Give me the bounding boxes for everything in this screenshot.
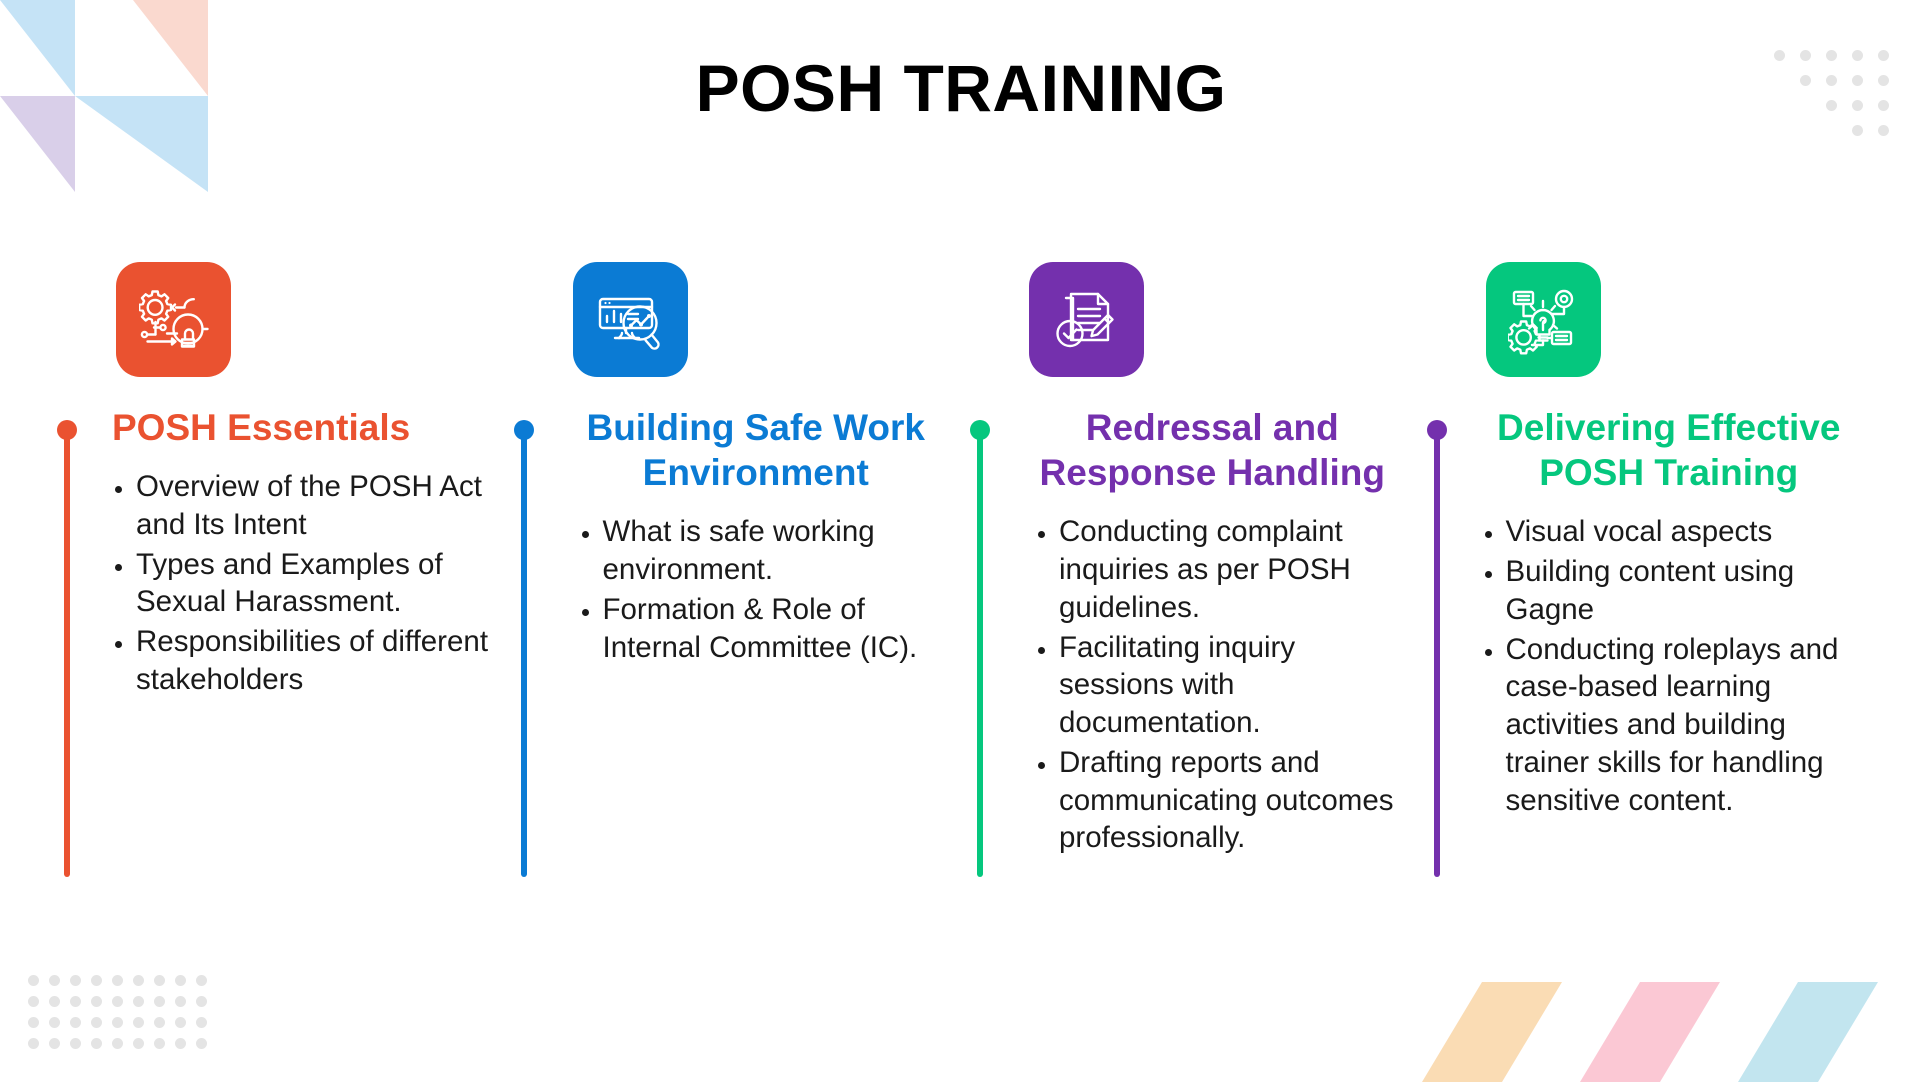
decorative-dot [112,975,123,986]
stripe-blue [1738,982,1878,1082]
decorative-dot [28,975,39,986]
decorative-dot [49,975,60,986]
list-item: Types and Examples of Sexual Harassment. [136,546,505,622]
list-item: Formation & Role of Internal Committee (… [603,591,962,667]
column-posh-essentials: POSH Essentials Overview of the POSH Act… [48,262,505,701]
divider-line [977,427,983,877]
decorative-dot [91,996,102,1007]
decorative-dot [133,996,144,1007]
icon-tile [1486,262,1601,377]
decorative-dot [112,1038,123,1049]
decorative-dot [133,1017,144,1028]
decorative-dot [196,1017,207,1028]
decorative-dot [133,1038,144,1049]
slide-canvas: POSH TRAINING [0,0,1922,1082]
columns-container: POSH Essentials Overview of the POSH Act… [48,262,1874,859]
decorative-dot [70,975,81,986]
decorative-dot [175,1038,186,1049]
decorative-dot [112,1017,123,1028]
decorative-dot [70,1038,81,1049]
stripe-orange [1422,982,1562,1082]
decorative-dot [196,996,207,1007]
column-title: Delivering Effective POSH Training [1464,405,1875,495]
decorative-dot [154,1017,165,1028]
decorative-dot [28,1017,39,1028]
document-pencil-check-icon [1052,285,1122,355]
column-title: POSH Essentials [94,405,505,450]
dot-grid-bottom-left-decoration [28,975,208,1055]
decorative-dot [112,996,123,1007]
list-item: Conducting complaint inquiries as per PO… [1059,513,1418,626]
divider-line [521,427,527,877]
list-item: Overview of the POSH Act and Its Intent [136,468,505,544]
decorative-dot [70,1017,81,1028]
gear-lightbulb-circuit-icon [139,285,209,355]
decorative-dot [175,996,186,1007]
decorative-dot [91,1038,102,1049]
icon-tile [116,262,231,377]
diagonal-stripes-decoration [1402,962,1922,1082]
icon-tile [1029,262,1144,377]
decorative-dot [154,975,165,986]
list-item: Drafting reports and communicating outco… [1059,744,1418,857]
column-bullet-list: What is safe working environment. Format… [551,513,962,666]
decorative-dot [1852,125,1863,136]
decorative-dot [91,975,102,986]
decorative-dot [154,1038,165,1049]
decorative-dot [175,1017,186,1028]
decorative-dot [49,996,60,1007]
list-item: Visual vocal aspects [1506,513,1875,551]
list-item: Facilitating inquiry sessions with docum… [1059,629,1418,742]
icon-tile [573,262,688,377]
decorative-dot [196,1038,207,1049]
monitor-chart-magnifier-icon [595,285,665,355]
decorative-dot [49,1017,60,1028]
column-title: Redressal and Response Handling [1007,405,1418,495]
column-title: Building Safe Work Environment [551,405,962,495]
column-delivering-effective-posh-training: Delivering Effective POSH Training Visua… [1418,262,1875,821]
list-item: Responsibilities of different stakeholde… [136,623,505,699]
decorative-dot [1878,125,1889,136]
lightbulb-gear-network-icon [1508,285,1578,355]
column-building-safe-work-environment: Building Safe Work Environment What is s… [505,262,962,668]
decorative-dot [154,996,165,1007]
divider-line [64,427,70,877]
decorative-dot [196,975,207,986]
decorative-dot [133,975,144,986]
decorative-dot [91,1017,102,1028]
column-redressal-and-response-handling: Redressal and Response Handling Conducti… [961,262,1418,859]
column-bullet-list: Overview of the POSH Act and Its Intent … [94,468,505,699]
decorative-dot [70,996,81,1007]
stripe-pink [1580,982,1720,1082]
column-bullet-list: Visual vocal aspects Building content us… [1464,513,1875,819]
list-item: Conducting roleplays and case-based lear… [1506,631,1875,820]
list-item: What is safe working environment. [603,513,962,589]
list-item: Building content using Gagne [1506,553,1875,629]
decorative-dot [28,1038,39,1049]
divider-line [1434,427,1440,877]
decorative-dot [49,1038,60,1049]
column-bullet-list: Conducting complaint inquiries as per PO… [1007,513,1418,857]
decorative-dot [175,975,186,986]
decorative-dot [28,996,39,1007]
page-title: POSH TRAINING [0,52,1922,126]
